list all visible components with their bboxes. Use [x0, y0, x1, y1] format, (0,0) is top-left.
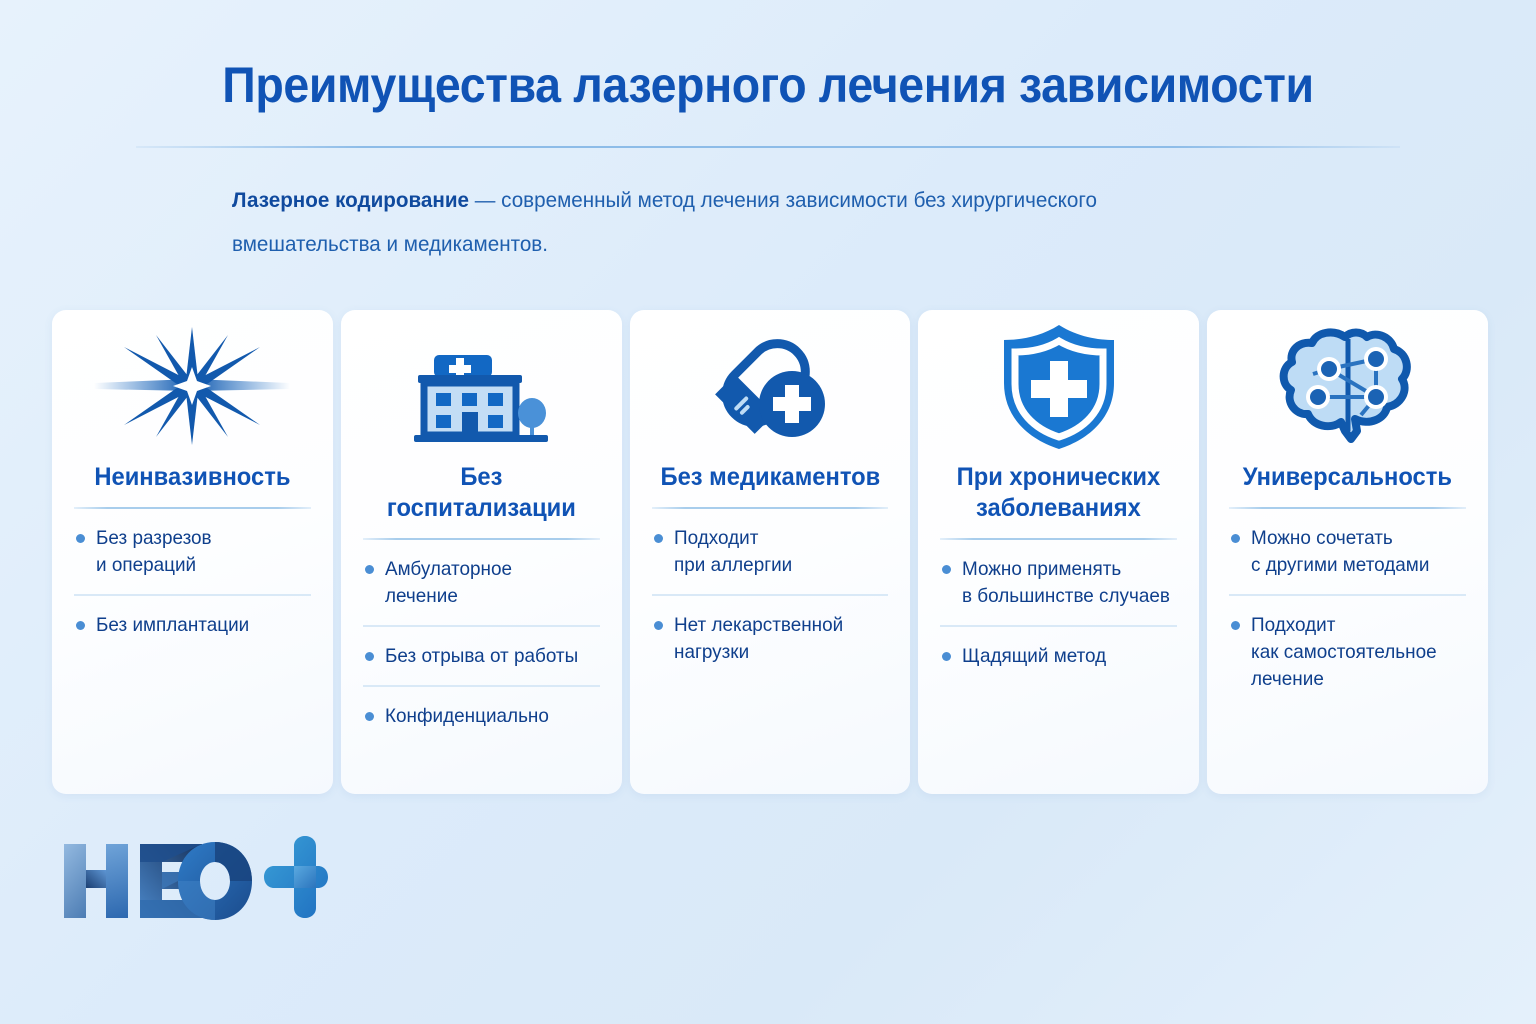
bullet-text: Без разрезов и операций	[96, 525, 212, 579]
page-title: Преимущества лазерного лечения зависимос…	[54, 56, 1482, 114]
bullet-dot-icon	[76, 621, 85, 630]
bullet-dot-icon	[654, 621, 663, 630]
card-title: Универсальность	[1235, 462, 1460, 495]
shield-cross-icon	[940, 310, 1177, 462]
benefit-card-noninvasive: Неинвазивность Без разрезов и операций Б…	[52, 310, 333, 794]
bullet-text: Можно применять в большинстве случаев	[962, 556, 1170, 610]
card-title: При хронических заболеваниях	[946, 462, 1171, 526]
bullet-dot-icon	[76, 534, 85, 543]
bullet-dot-icon	[942, 565, 951, 574]
bullet-list: Подходит при аллергии Нет лекарственной …	[652, 509, 889, 681]
list-item: Щадящий метод	[940, 625, 1177, 685]
bullet-list: Амбулаторное лечение Без отрыва от работ…	[363, 540, 600, 745]
list-item: Конфиденциально	[363, 685, 600, 745]
bullet-list: Можно применять в большинстве случаев Ща…	[940, 540, 1177, 685]
list-item: Можно сочетать с другими методами	[1229, 509, 1466, 594]
card-title: Неинвазивность	[80, 462, 305, 495]
list-item: Без разрезов и операций	[74, 509, 311, 594]
bullet-dot-icon	[1231, 621, 1240, 630]
card-title: Без госпитализации	[369, 462, 594, 526]
list-item: Нет лекарственной нагрузки	[652, 594, 889, 681]
bullet-text: Можно сочетать с другими методами	[1251, 525, 1429, 579]
bullet-text: Без отрыва от работы	[385, 643, 578, 670]
list-item: Можно применять в большинстве случаев	[940, 540, 1177, 625]
infographic-poster: Преимущества лазерного лечения зависимос…	[0, 0, 1536, 1024]
bullet-text: Нет лекарственной нагрузки	[674, 612, 843, 666]
bullet-text: Подходит при аллергии	[674, 525, 792, 579]
title-divider	[136, 146, 1400, 148]
list-item: Подходит как самостоятельное лечение	[1229, 594, 1466, 708]
benefit-card-no-medication: Без медикаментов Подходит при аллергии Н…	[630, 310, 911, 794]
hospital-building-icon	[363, 310, 600, 462]
bullet-dot-icon	[654, 534, 663, 543]
benefit-cards: Неинвазивность Без разрезов и операций Б…	[52, 310, 1488, 794]
bullet-dot-icon	[1231, 534, 1240, 543]
bullet-text: Без имплантации	[96, 612, 249, 639]
bullet-dot-icon	[365, 652, 374, 661]
subtitle: Лазерное кодирование — современный метод…	[232, 178, 1192, 266]
bullet-list: Можно сочетать с другими методами Подход…	[1229, 509, 1466, 708]
bullet-list: Без разрезов и операций Без имплантации	[74, 509, 311, 654]
bullet-text: Конфиденциально	[385, 703, 549, 730]
bullet-text: Амбулаторное лечение	[385, 556, 512, 610]
bullet-dot-icon	[942, 652, 951, 661]
bullet-dot-icon	[365, 712, 374, 721]
list-item: Амбулаторное лечение	[363, 540, 600, 625]
subtitle-strong: Лазерное кодирование	[232, 188, 469, 212]
pills-icon	[652, 310, 889, 462]
list-item: Без имплантации	[74, 594, 311, 654]
brain-network-icon	[1229, 310, 1466, 462]
benefit-card-chronic-conditions: При хронических заболеваниях Можно приме…	[918, 310, 1199, 794]
bullet-text: Подходит как самостоятельное лечение	[1251, 612, 1437, 693]
card-title: Без медикаментов	[658, 462, 883, 495]
list-item: Без отрыва от работы	[363, 625, 600, 685]
laser-burst-icon	[74, 310, 311, 462]
list-item: Подходит при аллергии	[652, 509, 889, 594]
bullet-text: Щадящий метод	[962, 643, 1106, 670]
brand-logo: НЕО+	[60, 836, 330, 931]
benefit-card-versatility: Универсальность Можно сочетать с другими…	[1207, 310, 1488, 794]
bullet-dot-icon	[365, 565, 374, 574]
benefit-card-no-hospitalization: Без госпитализации Амбулаторное лечение …	[341, 310, 622, 794]
